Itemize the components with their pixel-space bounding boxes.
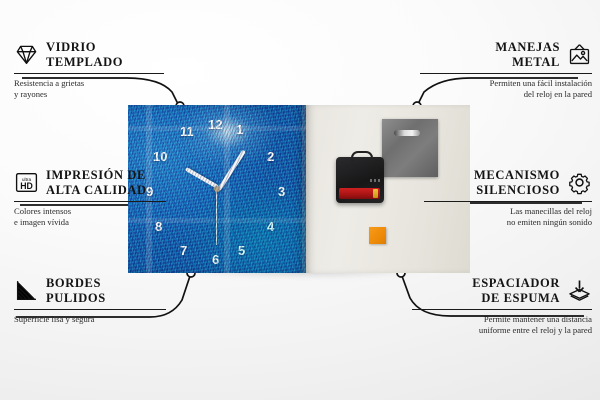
callout-title: BORDES PULIDOS xyxy=(46,276,106,306)
clock-numeral: 11 xyxy=(180,125,194,138)
battery xyxy=(339,188,380,199)
callout-manejas-metal[interactable]: MANEJAS METAL Permiten una fácil instala… xyxy=(420,40,592,101)
callout-title: VIDRIO TEMPLADO xyxy=(46,40,123,70)
callout-subtitle: Permiten una fácil instalación del reloj… xyxy=(420,78,592,101)
clock-numeral: 10 xyxy=(153,150,167,163)
foam-spacer-arrow-icon xyxy=(567,278,592,303)
callout-rule xyxy=(424,201,592,203)
callout-title: MANEJAS METAL xyxy=(495,40,560,70)
callout-title: IMPRESIÓN DE ALTA CALIDAD xyxy=(46,168,147,198)
clock-minute-hand xyxy=(217,150,246,192)
callout-rule xyxy=(14,201,166,203)
hanger-slot xyxy=(394,130,420,136)
polished-edge-icon xyxy=(14,278,39,303)
callout-rule xyxy=(14,73,164,75)
callout-subtitle: Resistencia a grietas y rayones xyxy=(14,78,164,101)
callout-espaciador-de-espuma[interactable]: ESPACIADOR DE ESPUMA Permite mantener un… xyxy=(412,276,592,337)
callout-subtitle: Superficie lisa y segura xyxy=(14,314,166,325)
callout-subtitle: Las manecillas del reloj no emiten ningú… xyxy=(424,206,592,229)
clock-numeral: 6 xyxy=(212,253,219,266)
svg-text:HD: HD xyxy=(20,181,33,191)
clock-numeral: 2 xyxy=(267,150,274,163)
clock-numeral: 3 xyxy=(278,185,285,198)
diamond-icon xyxy=(14,42,39,67)
clock-hour-hand xyxy=(185,167,219,189)
callout-rule xyxy=(14,309,166,311)
infographic-canvas: 1 2 3 4 5 6 7 8 9 10 11 12 xyxy=(0,0,600,400)
callout-subtitle: Permite mantener una distancia uniforme … xyxy=(412,314,592,337)
callout-rule xyxy=(420,73,592,75)
callout-subtitle: Colores intensos e imagen vívida xyxy=(14,206,166,229)
clock-numeral: 4 xyxy=(267,220,274,233)
foam-spacer xyxy=(369,227,386,244)
clock-center-cap xyxy=(214,186,220,192)
callout-title: MECANISMO SILENCIOSO xyxy=(474,168,560,198)
callout-title: ESPACIADOR DE ESPUMA xyxy=(472,276,560,306)
mechanism-loop xyxy=(351,151,373,162)
callout-bordes-pulidos[interactable]: BORDES PULIDOS Superficie lisa y segura xyxy=(14,276,166,325)
clock-numeral: 7 xyxy=(180,244,187,257)
product-image: 1 2 3 4 5 6 7 8 9 10 11 12 xyxy=(128,105,470,273)
callout-impresion-alta-calidad[interactable]: ultra HD IMPRESIÓN DE ALTA CALIDAD Color… xyxy=(14,168,166,229)
picture-frame-hanger-icon xyxy=(567,42,592,67)
clock-numeral: 1 xyxy=(236,123,243,136)
clock-second-hand xyxy=(216,189,217,245)
mechanism-detail xyxy=(370,179,380,182)
clock-numeral: 5 xyxy=(238,244,245,257)
callout-vidrio-templado[interactable]: VIDRIO TEMPLADO Resistencia a grietas y … xyxy=(14,40,164,101)
clock-numeral: 12 xyxy=(208,118,222,131)
clock-mechanism xyxy=(336,157,384,203)
ultra-hd-icon: ultra HD xyxy=(14,170,39,195)
gear-icon xyxy=(567,170,592,195)
callout-mecanismo-silencioso[interactable]: MECANISMO SILENCIOSO Las manecillas del … xyxy=(424,168,592,229)
callout-rule xyxy=(412,309,592,311)
